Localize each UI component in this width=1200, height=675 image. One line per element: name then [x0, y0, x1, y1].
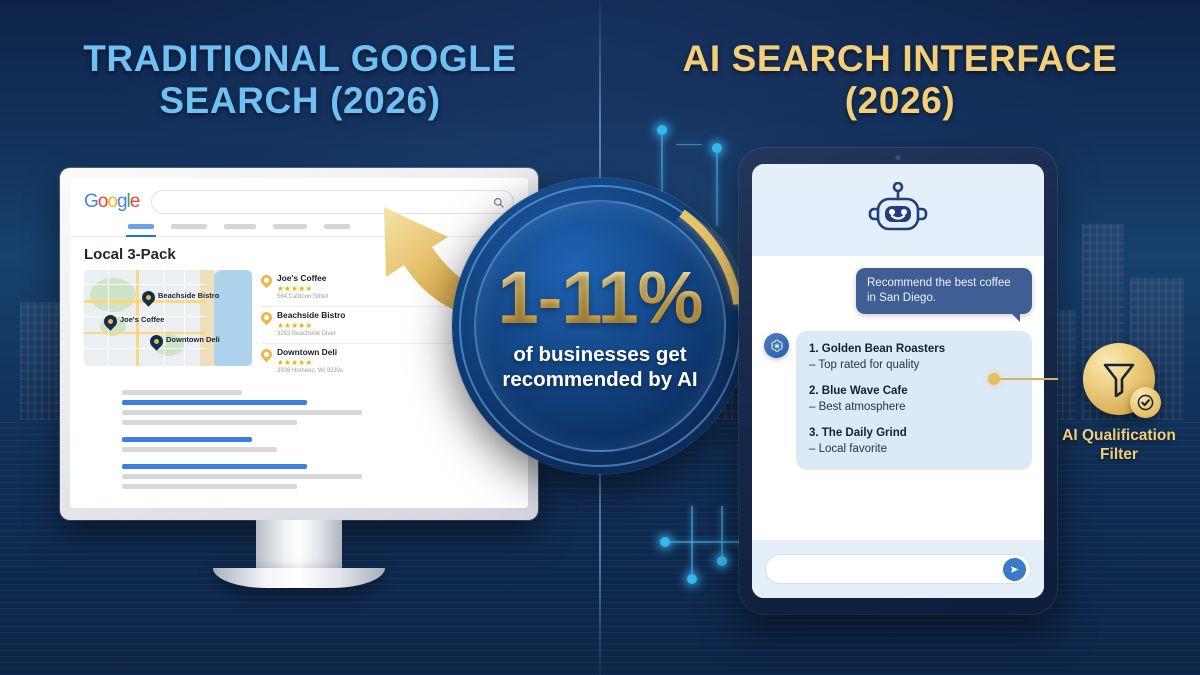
openai-logo-icon	[769, 338, 785, 354]
pin-icon	[261, 312, 272, 326]
listing-stars: ★★★★★	[277, 284, 328, 293]
monitor-stand	[213, 568, 385, 588]
camera-icon	[896, 155, 901, 160]
listing-stars: ★★★★★	[277, 358, 343, 367]
connector-line	[994, 378, 1058, 380]
infographic-canvas: TRADITIONAL GOOGLE SEARCH (2026) AI SEAR…	[0, 0, 1200, 675]
assistant-message-row: 1. Golden Bean Roasters – Top rated for …	[764, 331, 1032, 470]
local-map[interactable]: Beachside Bistro Joe's Coffee Downtown D…	[84, 270, 252, 366]
listing-name: Beachside Bistro	[277, 310, 345, 321]
send-icon	[1009, 564, 1020, 575]
filter-badge-circle	[1083, 343, 1155, 415]
recommendation-desc: – Top rated for quality	[809, 357, 1020, 373]
logo-letter: G	[84, 191, 98, 212]
assistant-header	[752, 164, 1044, 256]
recommendation-item: 3. The Daily Grind – Local favorite	[809, 426, 1020, 457]
tab-all[interactable]	[128, 224, 154, 229]
tab-videos[interactable]	[324, 224, 350, 229]
map-pin[interactable]: Beachside Bistro	[142, 291, 155, 308]
badge-percentage: 1-11%	[498, 261, 703, 335]
recommendation-item: 1. Golden Bean Roasters – Top rated for …	[809, 342, 1020, 373]
listing-name: Joe's Coffee	[277, 273, 328, 284]
assistant-message-bubble: 1. Golden Bean Roasters – Top rated for …	[796, 331, 1032, 470]
listing-address: 3936 Homeoo, Wi 9230s	[277, 367, 343, 376]
map-pin-label: Beachside Bistro	[158, 292, 219, 301]
send-button[interactable]	[1003, 558, 1026, 581]
tablet-device: Recommend the best coffee in San Diego. …	[739, 148, 1057, 614]
recommendation-title: 3. The Daily Grind	[809, 426, 1020, 441]
recommendation-title: 1. Golden Bean Roasters	[809, 342, 1020, 357]
listing-name: Downtown Deli	[277, 347, 343, 358]
tablet-screen: Recommend the best coffee in San Diego. …	[752, 164, 1044, 598]
connector-dot	[988, 373, 1000, 385]
map-pin[interactable]: Joe's Coffee	[104, 315, 117, 332]
tab-images[interactable]	[171, 224, 207, 229]
verified-check-badge	[1130, 387, 1161, 418]
tablet-frame: Recommend the best coffee in San Diego. …	[739, 148, 1057, 614]
logo-letter: e	[130, 191, 140, 212]
chat-input[interactable]	[765, 554, 1031, 584]
tab-more[interactable]	[389, 224, 419, 229]
badge-subtitle: of businesses get recommended by AI	[452, 342, 748, 392]
chat-thread: Recommend the best coffee in San Diego. …	[752, 256, 1044, 540]
robot-icon	[867, 182, 929, 238]
listing-address: 564 Catdoon:Sthlet	[277, 293, 328, 302]
avatar	[764, 333, 789, 358]
google-logo: Google	[84, 191, 139, 213]
ai-qualification-filter: AI Qualification Filter	[1058, 343, 1180, 495]
user-message-bubble: Recommend the best coffee in San Diego.	[856, 268, 1032, 314]
statistic-badge: 1-11% of businesses get recommended by A…	[452, 178, 748, 474]
logo-letter: o	[98, 191, 108, 212]
page-title-left: TRADITIONAL GOOGLE SEARCH (2026)	[40, 38, 560, 122]
listing-address: 3263 Beachside Divet	[277, 330, 345, 339]
map-pin-label: Joe's Coffee	[120, 316, 164, 325]
recommendation-item: 2. Blue Wave Cafe – Best atmosphere	[809, 384, 1020, 415]
page-title-right: AI SEARCH INTERFACE (2026)	[640, 38, 1160, 122]
filter-label: AI Qualification Filter	[1058, 426, 1180, 464]
recommendation-desc: – Best atmosphere	[809, 399, 1020, 415]
logo-letter: o	[107, 191, 117, 212]
tab-maps[interactable]	[224, 224, 256, 229]
listing-stars: ★★★★★	[277, 321, 345, 330]
funnel-icon	[1102, 361, 1136, 397]
pin-icon	[261, 349, 272, 363]
recommendation-desc: – Local favorite	[809, 441, 1020, 457]
chat-input-bar	[752, 540, 1044, 598]
check-icon	[1137, 394, 1154, 411]
map-pin-label: Downtown Deli	[166, 336, 220, 345]
recommendation-title: 2. Blue Wave Cafe	[809, 384, 1020, 399]
local-pack-heading: Local 3-Pack	[84, 246, 514, 263]
map-pin[interactable]: Downtown Deli	[150, 335, 163, 352]
tab-news[interactable]	[273, 224, 307, 229]
logo-letter: g	[117, 191, 127, 212]
pin-icon	[261, 275, 272, 289]
